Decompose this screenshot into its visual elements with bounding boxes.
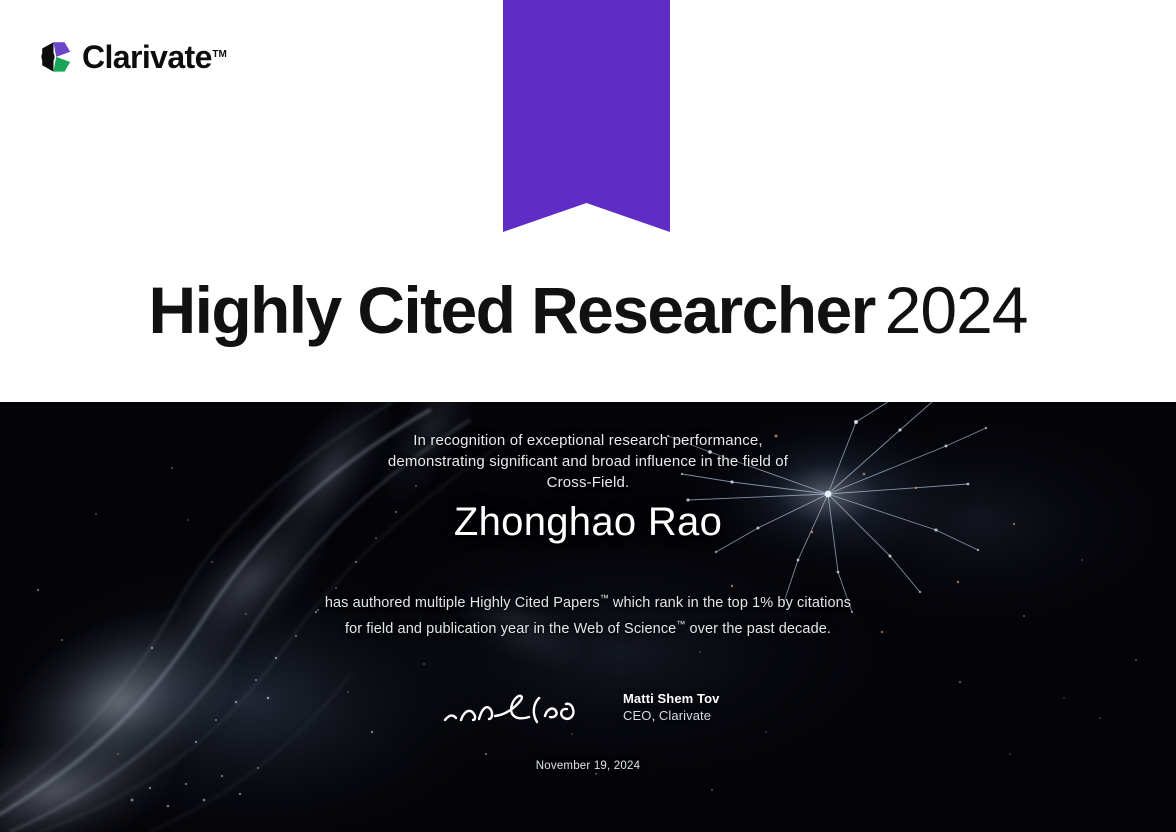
clarivate-hexagon-icon (40, 40, 72, 74)
recognition-statement: In recognition of exceptional research p… (0, 430, 1176, 493)
body-line-1-part-1: has authored multiple Highly Cited Paper… (325, 595, 600, 611)
recipient-name: Zhonghao Rao (0, 500, 1176, 545)
signature-block: Matti Shem Tov CEO, Clarivate (443, 684, 733, 736)
certificate-body-text: has authored multiple Highly Cited Paper… (0, 588, 1176, 640)
brand-trademark-icon: TM (212, 38, 226, 72)
signer-name: Matti Shem Tov (623, 690, 720, 707)
issue-date: November 19, 2024 (0, 760, 1176, 772)
recognition-line-1: In recognition of exceptional research p… (0, 430, 1176, 451)
web-of-science-trademark-icon: ™ (676, 619, 685, 629)
certificate-body-section: In recognition of exceptional research p… (0, 402, 1176, 832)
highly-cited-papers-trademark-icon: ™ (600, 593, 609, 603)
signer-details: Matti Shem Tov CEO, Clarivate (623, 690, 720, 724)
title-year-text: 2024 (885, 273, 1028, 347)
recognition-field: Cross-Field. (0, 472, 1176, 493)
certificate-text-content: In recognition of exceptional research p… (0, 402, 1176, 832)
certificate-header-section: Clarivate TM Highly Cited Researcher2024 (0, 0, 1176, 402)
clarivate-logo: Clarivate TM (40, 38, 212, 76)
award-ribbon-icon (503, 0, 670, 232)
body-line-2-part-2: over the past decade. (685, 621, 831, 637)
clarivate-wordmark: Clarivate TM (82, 40, 212, 74)
signer-title: CEO, Clarivate (623, 707, 720, 724)
certificate-title: Highly Cited Researcher2024 (0, 272, 1176, 348)
brand-name: Clarivate (82, 39, 212, 75)
certificate: Clarivate TM Highly Cited Researcher2024 (0, 0, 1176, 832)
body-line-1-part-2: which rank in the top 1% by citations (609, 595, 851, 611)
title-main-text: Highly Cited Researcher (149, 273, 875, 347)
body-line-1: has authored multiple Highly Cited Paper… (0, 588, 1176, 614)
recognition-line-2: demonstrating significant and broad infl… (0, 451, 1176, 472)
body-line-2: for field and publication year in the We… (0, 614, 1176, 640)
body-line-2-part-1: for field and publication year in the We… (345, 621, 676, 637)
handwritten-signature-icon (443, 684, 583, 732)
